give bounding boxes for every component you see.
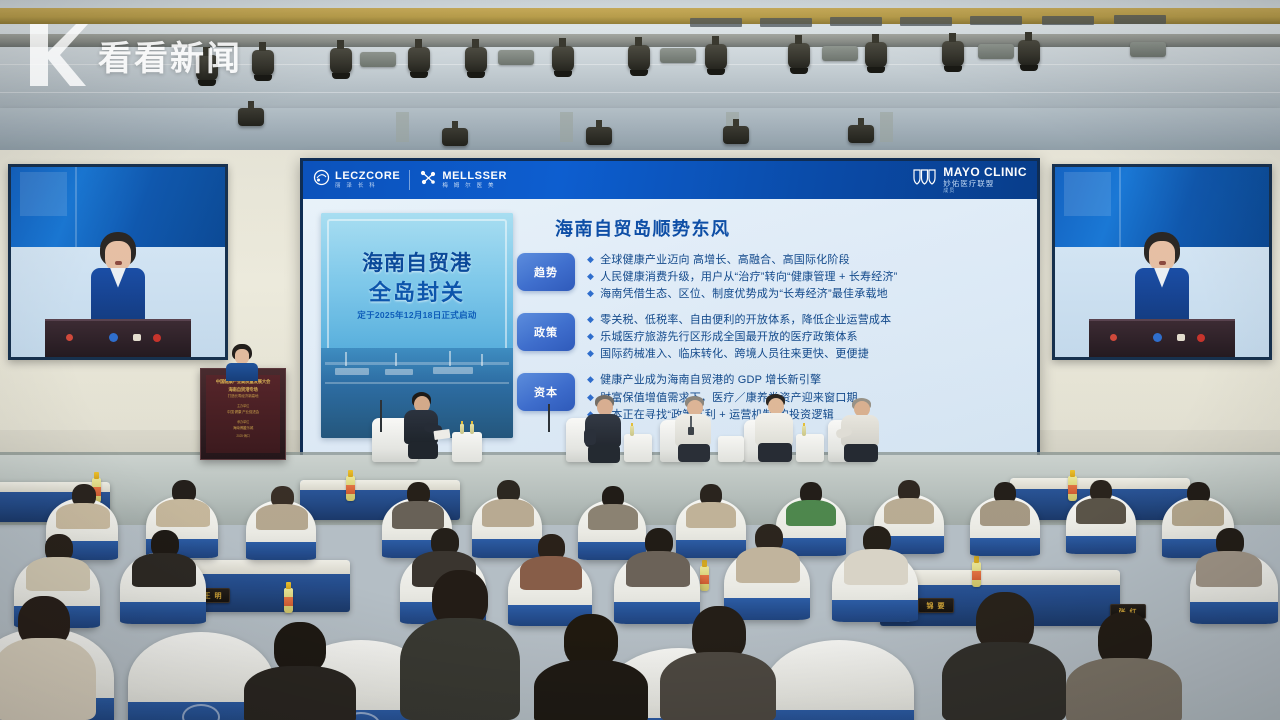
shoulders	[26, 557, 90, 591]
audience-member	[256, 486, 308, 530]
audience-member	[942, 592, 1066, 720]
mellsser-wordmark: MELLSSER 梅 姆 尔 医 美	[442, 171, 507, 190]
audience-member	[686, 484, 736, 528]
port-crane	[395, 353, 397, 366]
leczcore-name-cn: 丽 泽 长 科	[335, 184, 400, 190]
audience-member	[0, 596, 96, 720]
shoulders	[660, 652, 776, 720]
audience-member	[534, 614, 648, 720]
shoulders	[686, 502, 736, 528]
ceiling-vent	[830, 17, 882, 26]
stage-light	[252, 50, 274, 76]
audience-member	[980, 482, 1030, 526]
broadcast-frame: LECZCORE 丽 泽 长 科	[0, 0, 1280, 720]
ceiling-vent	[900, 17, 952, 26]
speaker-jacket	[226, 363, 258, 381]
ceiling-seam	[0, 92, 1280, 93]
mayo-clinic-logo: MAYO CLINIC 妙佑医疗联盟 成员	[913, 166, 1027, 195]
shoulders	[942, 642, 1066, 720]
right-projection-screen	[1052, 164, 1272, 360]
section-bullets-policy: ◆ 零关税、低税率、自由便利的开放体系，降低企业运营成本 ◆ 乐城医疗旅游先行区…	[575, 313, 1025, 364]
podium-banner-line: 主办单位	[209, 404, 277, 408]
panelist-4	[838, 398, 884, 464]
stage-light	[238, 108, 264, 126]
speaker-podium: 中国健康产业高质量发展大会 海南自贸港专场 打造长寿经济新高地 主办单位 中国 …	[200, 368, 286, 460]
podium-emblem	[153, 334, 161, 342]
podium-banner-line: 海南博鳌乐城	[209, 426, 277, 430]
audience-member	[588, 486, 638, 530]
stage-light	[788, 43, 810, 69]
stage-light	[552, 46, 574, 72]
mellsser-name: MELLSSER	[442, 171, 507, 182]
podium-emblem	[133, 334, 141, 341]
mellsser-logo: MELLSSER 梅 姆 尔 医 美	[419, 169, 507, 191]
container-ship	[335, 368, 369, 375]
shoulders	[0, 638, 96, 720]
audience-member	[56, 484, 110, 528]
panelist-torso	[755, 413, 793, 445]
podium-banner-line: 2025·海口	[209, 434, 277, 438]
diamond-bullet-icon: ◆	[587, 313, 594, 326]
chair-sash	[246, 542, 316, 560]
panelist-3	[752, 394, 798, 464]
audience-member	[786, 482, 836, 526]
water-bottle	[460, 424, 464, 434]
stage-light	[465, 47, 487, 73]
circle-leaf-icon	[313, 169, 330, 191]
podium-emblem	[1197, 334, 1205, 342]
slide-section-policy: 政策 ◆ 零关税、低税率、自由便利的开放体系，降低企业运营成本 ◆ 乐城医疗旅游…	[517, 313, 1025, 364]
promo-subline: 定于2025年12月18日正式启动	[321, 309, 513, 321]
stage-light	[723, 126, 749, 144]
audience-member	[400, 570, 520, 720]
bullet-text: 国际药械准入、临床转化、跨境人员往来更快、更便捷	[600, 347, 869, 361]
podium-emblem	[1177, 334, 1185, 341]
molecule-icon	[419, 169, 437, 191]
diamond-bullet-icon: ◆	[587, 347, 594, 360]
podium-banner-line: 打造长寿经济新高地	[209, 394, 277, 398]
mayo-wordmark: MAYO CLINIC 妙佑医疗联盟 成员	[943, 166, 1027, 195]
diamond-bullet-icon: ◆	[587, 330, 594, 343]
name-badge	[688, 427, 694, 435]
audience-member	[156, 480, 210, 526]
section-label-capital: 资本	[517, 373, 575, 411]
podium-graphic	[1089, 319, 1235, 357]
shoulders	[244, 666, 356, 720]
light-housing	[660, 48, 696, 63]
shoulders	[884, 498, 934, 524]
speaker-mouth	[1159, 261, 1166, 265]
panelist-moderator	[400, 392, 444, 464]
slide-section-trends: 趋势 ◆ 全球健康产业迈向 高增长、高融合、高国际化阶段 ◆ 人民健康消费升级，…	[517, 253, 1025, 304]
section-bullets-trends: ◆ 全球健康产业迈向 高增长、高融合、高国际化阶段 ◆ 人民健康消费升级，用户从…	[575, 253, 1025, 304]
water-bottle	[346, 476, 355, 501]
audience-member	[1196, 528, 1262, 586]
panelist-legs	[758, 443, 792, 462]
section-bullets-capital: ◆ 健康产业成为海南自贸港的 GDP 增长新引擎 ◆ 财富保值增值需求下，医疗／…	[575, 373, 1025, 424]
microphone-stand	[380, 400, 382, 432]
bullet-text: 海南凭借生态、区位、制度优势成为“长寿经济”最佳承载地	[600, 287, 888, 301]
stage-light	[865, 42, 887, 68]
logo-divider	[409, 170, 410, 190]
water-bottle	[700, 566, 709, 591]
podium-banner-line: 中国 健康 产业促进会	[209, 410, 277, 414]
audience-member	[244, 622, 356, 720]
bottle-label	[346, 485, 355, 494]
light-housing	[978, 44, 1014, 59]
audience-member	[26, 534, 90, 590]
bottle-label	[284, 597, 293, 606]
left-projection-screen	[8, 164, 228, 360]
shoulders	[844, 549, 908, 585]
mayo-name-cn: 妙佑医疗联盟	[943, 180, 1027, 188]
bullet-text: 人民健康消费升级，用户从“治疗”转向“健康管理 + 长寿经济”	[600, 270, 897, 284]
diamond-bullet-icon: ◆	[587, 373, 594, 386]
mayo-member-label: 成员	[943, 189, 1027, 194]
port-crane	[345, 352, 347, 366]
chair-sash	[832, 600, 918, 622]
audience-member	[132, 530, 196, 586]
bullet-text: 乐城医疗旅游先行区形成全国最开放的医疗政策体系	[600, 330, 858, 344]
stage-light	[408, 47, 430, 73]
diamond-bullet-icon: ◆	[587, 253, 594, 266]
diamond-bullet-icon: ◆	[587, 287, 594, 300]
audience-member	[626, 528, 690, 586]
shoulders	[392, 501, 444, 529]
bullet-text: 零关税、低税率、自由便利的开放体系，降低企业运营成本	[600, 313, 891, 327]
slide-title: 海南自贸岛顺势东风	[555, 215, 1025, 241]
speaker-face	[235, 349, 249, 364]
light-housing	[498, 50, 534, 65]
mellsser-name-cn: 梅 姆 尔 医 美	[442, 184, 507, 190]
light-housing	[1130, 42, 1166, 57]
panelist-legs	[408, 442, 438, 459]
bullet-item: ◆ 人民健康消费升级，用户从“治疗”转向“健康管理 + 长寿经济”	[587, 270, 1025, 284]
soffit-pillar	[880, 112, 893, 142]
slide-header: LECZCORE 丽 泽 长 科	[303, 161, 1037, 199]
audience-member	[1172, 482, 1224, 526]
shoulders	[980, 500, 1030, 526]
podium-emblem	[1110, 334, 1117, 341]
bullet-item: ◆ 财富保值增值需求下，医疗／康养类资产迎来窗口期	[587, 391, 1025, 405]
podium-graphic	[45, 319, 191, 357]
stage-light	[942, 41, 964, 67]
podium-banner: 中国健康产业高质量发展大会 海南自贸港专场 打造长寿经济新高地 主办单位 中国 …	[206, 375, 280, 453]
panel-side-table	[718, 436, 744, 462]
panelist-legs	[844, 444, 878, 462]
panelist-1	[582, 395, 626, 465]
stage-light	[1018, 40, 1040, 66]
leczcore-logo: LECZCORE 丽 泽 长 科	[313, 169, 400, 191]
water-bottle	[284, 588, 293, 613]
promo-headline-2: 全岛封关	[321, 275, 513, 307]
audience-member	[884, 480, 934, 524]
shoulders	[482, 499, 534, 527]
mayo-name: MAYO CLINIC	[943, 166, 1027, 178]
shoulders	[1066, 658, 1182, 720]
ceiling-vent	[760, 18, 812, 27]
stage-light	[586, 127, 612, 145]
placard-text: 王 明	[204, 591, 223, 601]
chair-sash	[120, 602, 206, 624]
port-crane	[481, 354, 483, 366]
bullet-item: ◆ 全球健康产业迈向 高增长、高融合、高国际化阶段	[587, 253, 1025, 267]
speaker-mouth	[115, 261, 122, 265]
stage-light	[848, 125, 874, 143]
bullet-item: ◆ 健康产业成为海南自贸港的 GDP 增长新引擎	[587, 373, 1025, 387]
bullet-item: ◆ 海南凭借生态、区位、制度优势成为“长寿经济”最佳承载地	[587, 287, 1025, 301]
container-ship	[385, 369, 413, 375]
section-label-policy: 政策	[517, 313, 575, 351]
panelist-legs	[588, 445, 620, 463]
bullet-item: ◆ 零关税、低税率、自由便利的开放体系，降低企业运营成本	[587, 313, 1025, 327]
chair-sash	[1066, 536, 1136, 554]
audience-member	[1076, 480, 1126, 524]
chair-sash	[970, 538, 1040, 556]
shoulders	[1172, 500, 1224, 526]
leczcore-wordmark: LECZCORE 丽 泽 长 科	[335, 171, 400, 190]
podium-banner-line: 承办单位	[209, 420, 277, 424]
section-label-trends: 趋势	[517, 253, 575, 291]
bullet-text: 健康产业成为海南自贸港的 GDP 增长新引擎	[600, 373, 821, 387]
shoulders	[132, 553, 196, 587]
panelist-arm	[584, 429, 596, 445]
ceiling-vent	[970, 16, 1022, 25]
water-bottle	[972, 562, 981, 587]
stage-light	[330, 48, 352, 74]
chair-sash	[764, 710, 914, 720]
bullet-item: ◆ 国际药械准入、临床转化、跨境人员往来更快、更便捷	[587, 347, 1025, 361]
bullet-item: ◆ 乐城医疗旅游先行区形成全国最开放的医疗政策体系	[587, 330, 1025, 344]
bottle-label	[972, 571, 981, 580]
audience-member	[482, 480, 534, 526]
diamond-bullet-icon: ◆	[587, 270, 594, 283]
bullet-text: 全球健康产业迈向 高增长、高融合、高国际化阶段	[600, 253, 850, 267]
panelist-legs	[678, 444, 710, 462]
light-housing	[822, 46, 858, 61]
port-crane	[449, 351, 451, 366]
podium-emblem	[109, 333, 118, 342]
soffit-pillar	[560, 112, 573, 142]
chair-sash	[1190, 602, 1278, 624]
sponsor-logos: LECZCORE 丽 泽 长 科	[313, 169, 507, 191]
shoulders	[1076, 498, 1126, 524]
podium-banner-line: 海南自贸港专场	[209, 387, 277, 393]
stage-light	[628, 45, 650, 71]
bottle-label	[700, 575, 709, 584]
shoulders	[256, 504, 308, 530]
ceiling-vent	[1042, 16, 1094, 25]
bullet-text: 财富保值增值需求下，医疗／康养类资产迎来窗口期	[600, 391, 858, 405]
ceiling-vent	[1114, 15, 1166, 24]
shoulders	[400, 618, 520, 720]
shoulders	[56, 503, 110, 529]
audience-member	[520, 534, 582, 590]
podium-emblem	[66, 334, 73, 341]
audience-member	[736, 524, 800, 582]
container-ship	[433, 367, 473, 374]
microphone-stand	[548, 404, 550, 432]
audience-member	[844, 526, 908, 584]
shoulders	[786, 500, 836, 526]
panel-side-table	[624, 434, 652, 462]
bullet-item: ◆ 资本正在寻找“政策红利 + 运营机制”的投资逻辑	[587, 408, 1025, 422]
shoulders	[520, 556, 582, 590]
shoulders	[736, 547, 800, 583]
ceiling-soffit	[0, 108, 1280, 154]
mayo-shields-icon	[913, 168, 937, 192]
ceiling-vent	[690, 18, 742, 27]
bullet-text: 资本正在寻找“政策红利 + 运营机制”的投资逻辑	[600, 408, 834, 422]
podium-emblem	[1153, 333, 1162, 342]
panel-side-table	[452, 432, 482, 462]
audience-chair	[764, 640, 914, 720]
shoulders	[156, 499, 210, 527]
stage-light	[196, 55, 218, 81]
podium-speaker	[224, 344, 260, 378]
shoulders	[626, 551, 690, 587]
audience-member	[1066, 612, 1182, 720]
audience-member	[392, 482, 444, 528]
leczcore-name: LECZCORE	[335, 171, 400, 182]
promo-headline-1: 海南自贸港	[321, 247, 513, 277]
soffit-pillar	[396, 112, 409, 142]
light-housing	[360, 52, 396, 67]
shoulders	[1196, 551, 1262, 587]
dock-line	[325, 382, 509, 384]
stage-light	[442, 128, 468, 146]
stage-light	[705, 44, 727, 70]
water-bottle	[802, 426, 806, 436]
water-bottle	[470, 424, 474, 434]
audience-member	[660, 606, 776, 720]
panelist-2	[672, 396, 716, 464]
shoulders	[588, 504, 638, 530]
panel-side-table	[796, 434, 824, 462]
shoulders	[534, 660, 648, 720]
water-bottle	[630, 426, 634, 436]
